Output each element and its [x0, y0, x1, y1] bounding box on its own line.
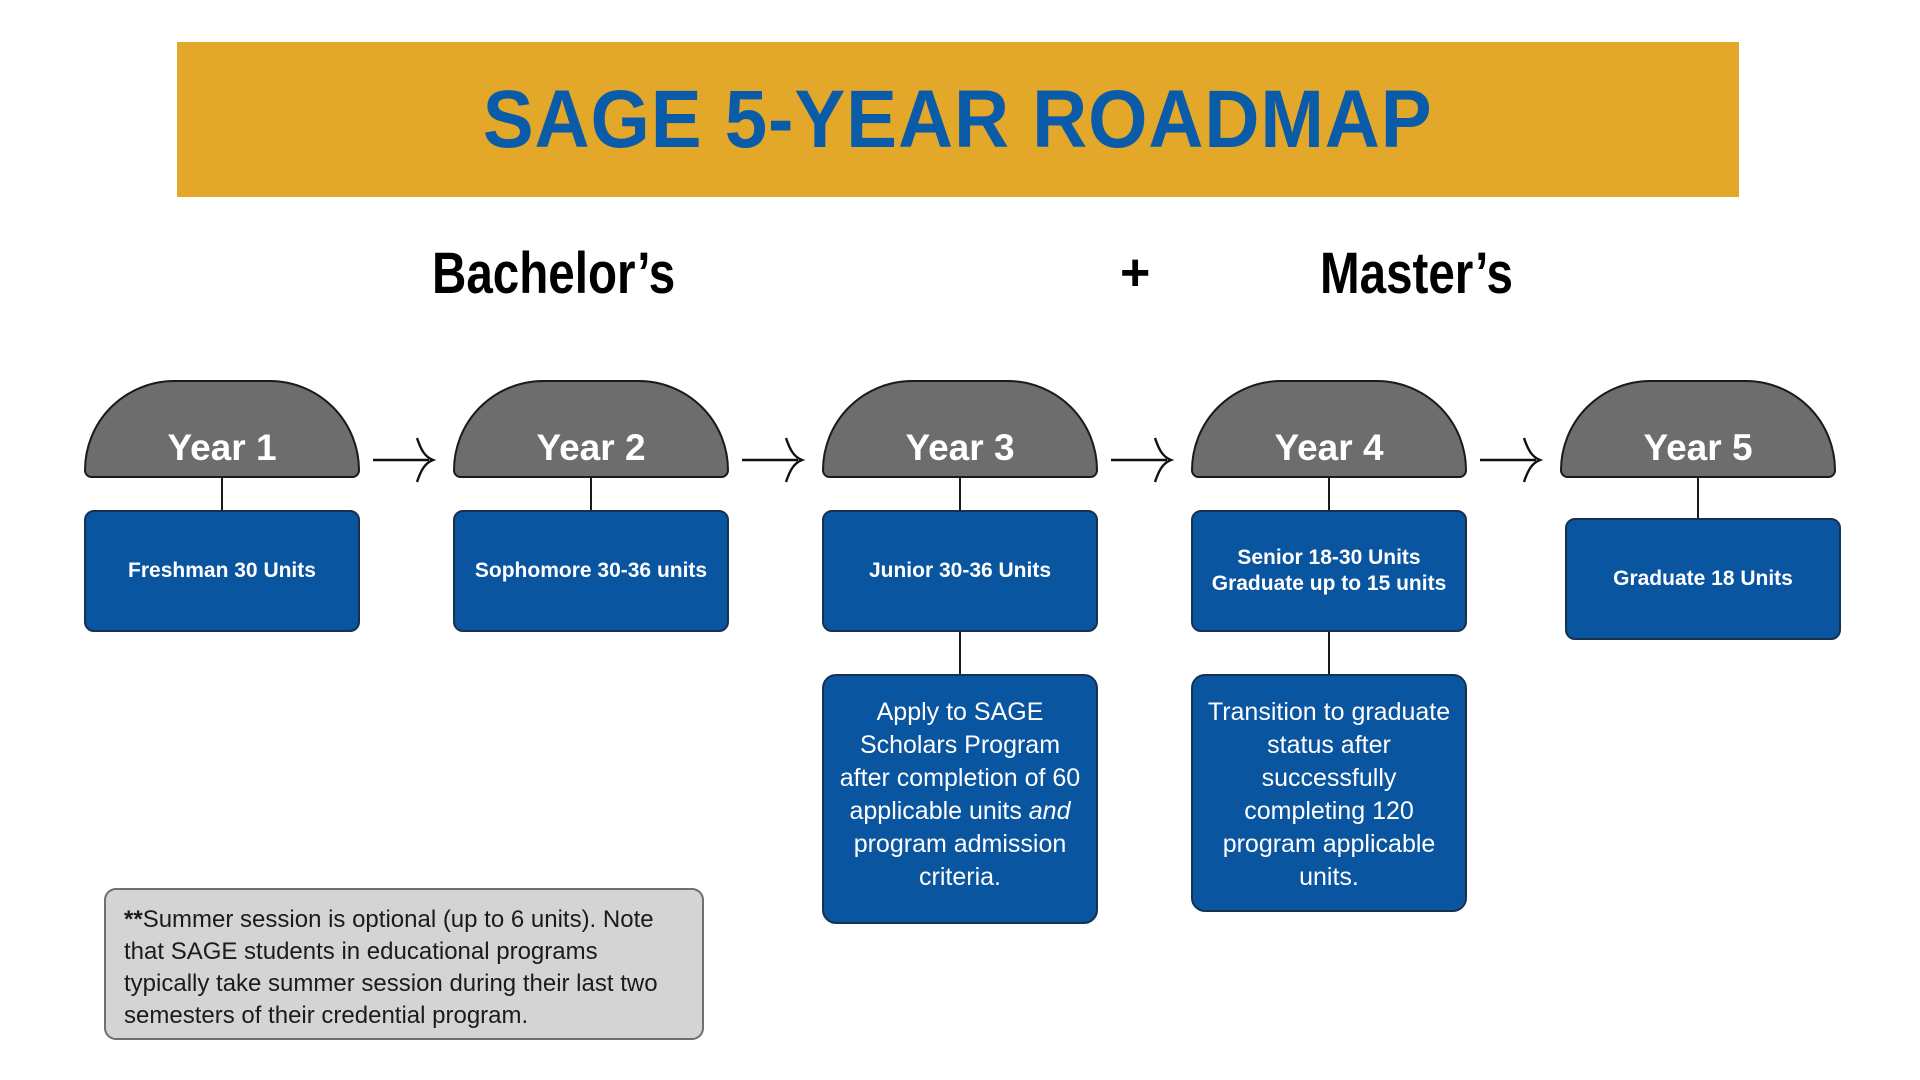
connector-stem-3: [959, 478, 961, 510]
year-column-5: Year 5 Graduate 18 Units: [1560, 380, 1836, 478]
degree-label-plus: +: [1120, 247, 1150, 299]
year-node-label-2: Year 2: [536, 429, 645, 466]
connector-stem-1: [221, 478, 223, 510]
units-box-1[interactable]: Freshman 30 Units: [84, 510, 360, 632]
footnote-text: **Summer session is optional (up to 6 un…: [124, 904, 684, 1032]
right-arrow-icon-3: [1109, 432, 1181, 488]
year-node-2[interactable]: Year 2: [453, 380, 729, 478]
year-node-label-1: Year 1: [167, 429, 276, 466]
right-arrow-icon-4: [1478, 432, 1550, 488]
units-box-2[interactable]: Sophomore 30-36 units: [453, 510, 729, 632]
right-arrow-icon-2: [740, 432, 812, 488]
title-banner: SAGE 5-YEAR ROADMAP: [177, 42, 1739, 197]
connector-stem-4: [1328, 478, 1330, 510]
detail-box-text-3: Apply to SAGE Scholars Program after com…: [824, 696, 1096, 894]
year-node-label-5: Year 5: [1643, 429, 1752, 466]
connector-stem-4-detail: [1328, 632, 1330, 674]
year-node-3[interactable]: Year 3: [822, 380, 1098, 478]
detail-box-3[interactable]: Apply to SAGE Scholars Program after com…: [822, 674, 1098, 924]
connector-stem-3-detail: [959, 632, 961, 674]
year-column-2: Year 2 Sophomore 30-36 units: [453, 380, 729, 478]
degree-label-masters: Master’s: [1320, 245, 1513, 303]
connector-stem-2: [590, 478, 592, 510]
right-arrow-icon-1: [371, 432, 443, 488]
units-box-3[interactable]: Junior 30-36 Units: [822, 510, 1098, 632]
year-node-label-3: Year 3: [905, 429, 1014, 466]
year-column-4: Year 4 Senior 18-30 Units Graduate up to…: [1191, 380, 1467, 478]
degree-label-bachelors: Bachelor’s: [432, 245, 675, 303]
year-column-3: Year 3 Junior 30-36 Units Apply to SAGE …: [822, 380, 1098, 478]
footnote-marker: **: [124, 906, 143, 933]
page-title: SAGE 5-YEAR ROADMAP: [483, 79, 1433, 161]
detail-box-text-4: Transition to graduate status after succ…: [1193, 696, 1465, 894]
units-box-label-3: Junior 30-36 Units: [859, 558, 1061, 584]
units-box-label-4: Senior 18-30 Units Graduate up to 15 uni…: [1193, 545, 1465, 598]
year-node-label-4: Year 4: [1274, 429, 1383, 466]
detail-box-4[interactable]: Transition to graduate status after succ…: [1191, 674, 1467, 912]
footnote-body: Summer session is optional (up to 6 unit…: [124, 906, 658, 1029]
year-column-1: Year 1 Freshman 30 Units: [84, 380, 360, 478]
year-node-4[interactable]: Year 4: [1191, 380, 1467, 478]
footnote-box: **Summer session is optional (up to 6 un…: [104, 888, 704, 1040]
units-box-label-5: Graduate 18 Units: [1603, 566, 1803, 592]
year-node-1[interactable]: Year 1: [84, 380, 360, 478]
units-box-4[interactable]: Senior 18-30 Units Graduate up to 15 uni…: [1191, 510, 1467, 632]
units-box-label-1: Freshman 30 Units: [118, 558, 326, 584]
units-box-5[interactable]: Graduate 18 Units: [1565, 518, 1841, 640]
units-box-label-2: Sophomore 30-36 units: [465, 558, 717, 584]
connector-stem-5: [1697, 478, 1699, 518]
year-node-5[interactable]: Year 5: [1560, 380, 1836, 478]
